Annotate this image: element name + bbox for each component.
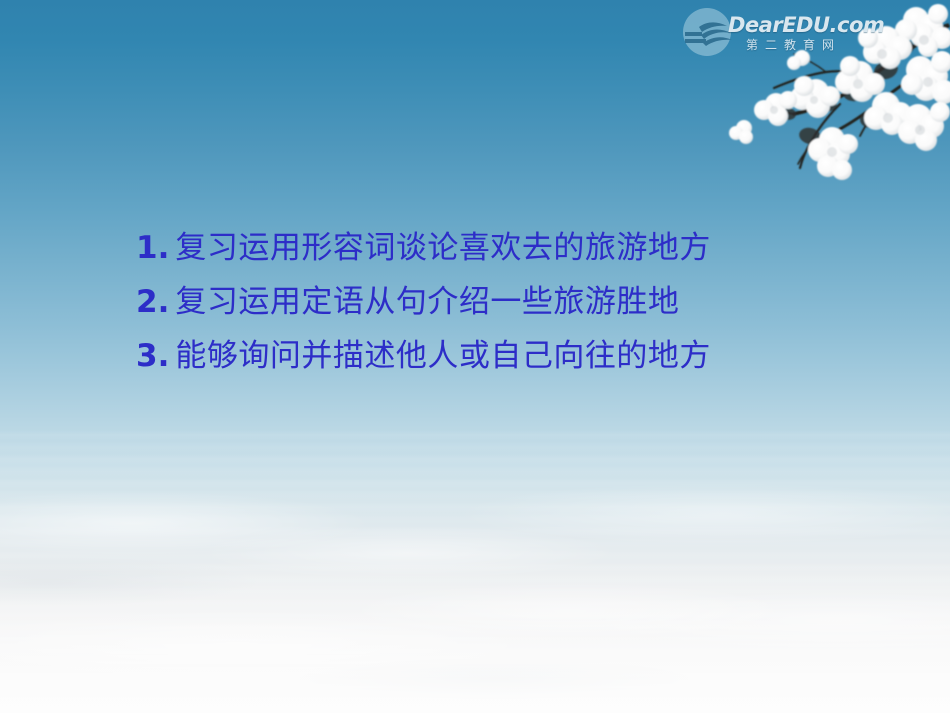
cloud-haze-layer [0,430,950,713]
horizon-fade-layer [0,560,950,713]
list-item: 1. 复习运用形容词谈论喜欢去的旅游地方 [136,222,836,276]
cherry-blossom-branch-icon [690,0,950,210]
list-item: 2. 复习运用定语从句介绍一些旅游胜地 [136,276,836,330]
presentation-slide: DearEDU.com 第二教育网 1. 复习运用形容词谈论喜欢去的旅游地方 2… [0,0,950,713]
watermark-text: DearEDU.com 第二教育网 [728,15,898,51]
list-item-text: 复习运用形容词谈论喜欢去的旅游地方 [175,222,711,267]
list-item-number: 2. [136,284,169,320]
watermark-logo: DearEDU.com 第二教育网 [681,4,896,60]
watermark-subtitle: 第二教育网 [746,39,898,51]
list-item-number: 1. [136,230,169,266]
watermark-brand: DearEDU.com [728,15,898,36]
objectives-list: 1. 复习运用形容词谈论喜欢去的旅游地方 2. 复习运用定语从句介绍一些旅游胜地… [136,222,836,384]
list-item-number: 3. [136,338,169,374]
list-item: 3. 能够询问并描述他人或自己向往的地方 [136,330,836,384]
list-item-text: 能够询问并描述他人或自己向往的地方 [175,330,711,375]
wave-swoosh-circle-icon [681,6,733,58]
cloud-puff-layer [0,470,950,713]
list-item-text: 复习运用定语从句介绍一些旅游胜地 [175,276,679,321]
